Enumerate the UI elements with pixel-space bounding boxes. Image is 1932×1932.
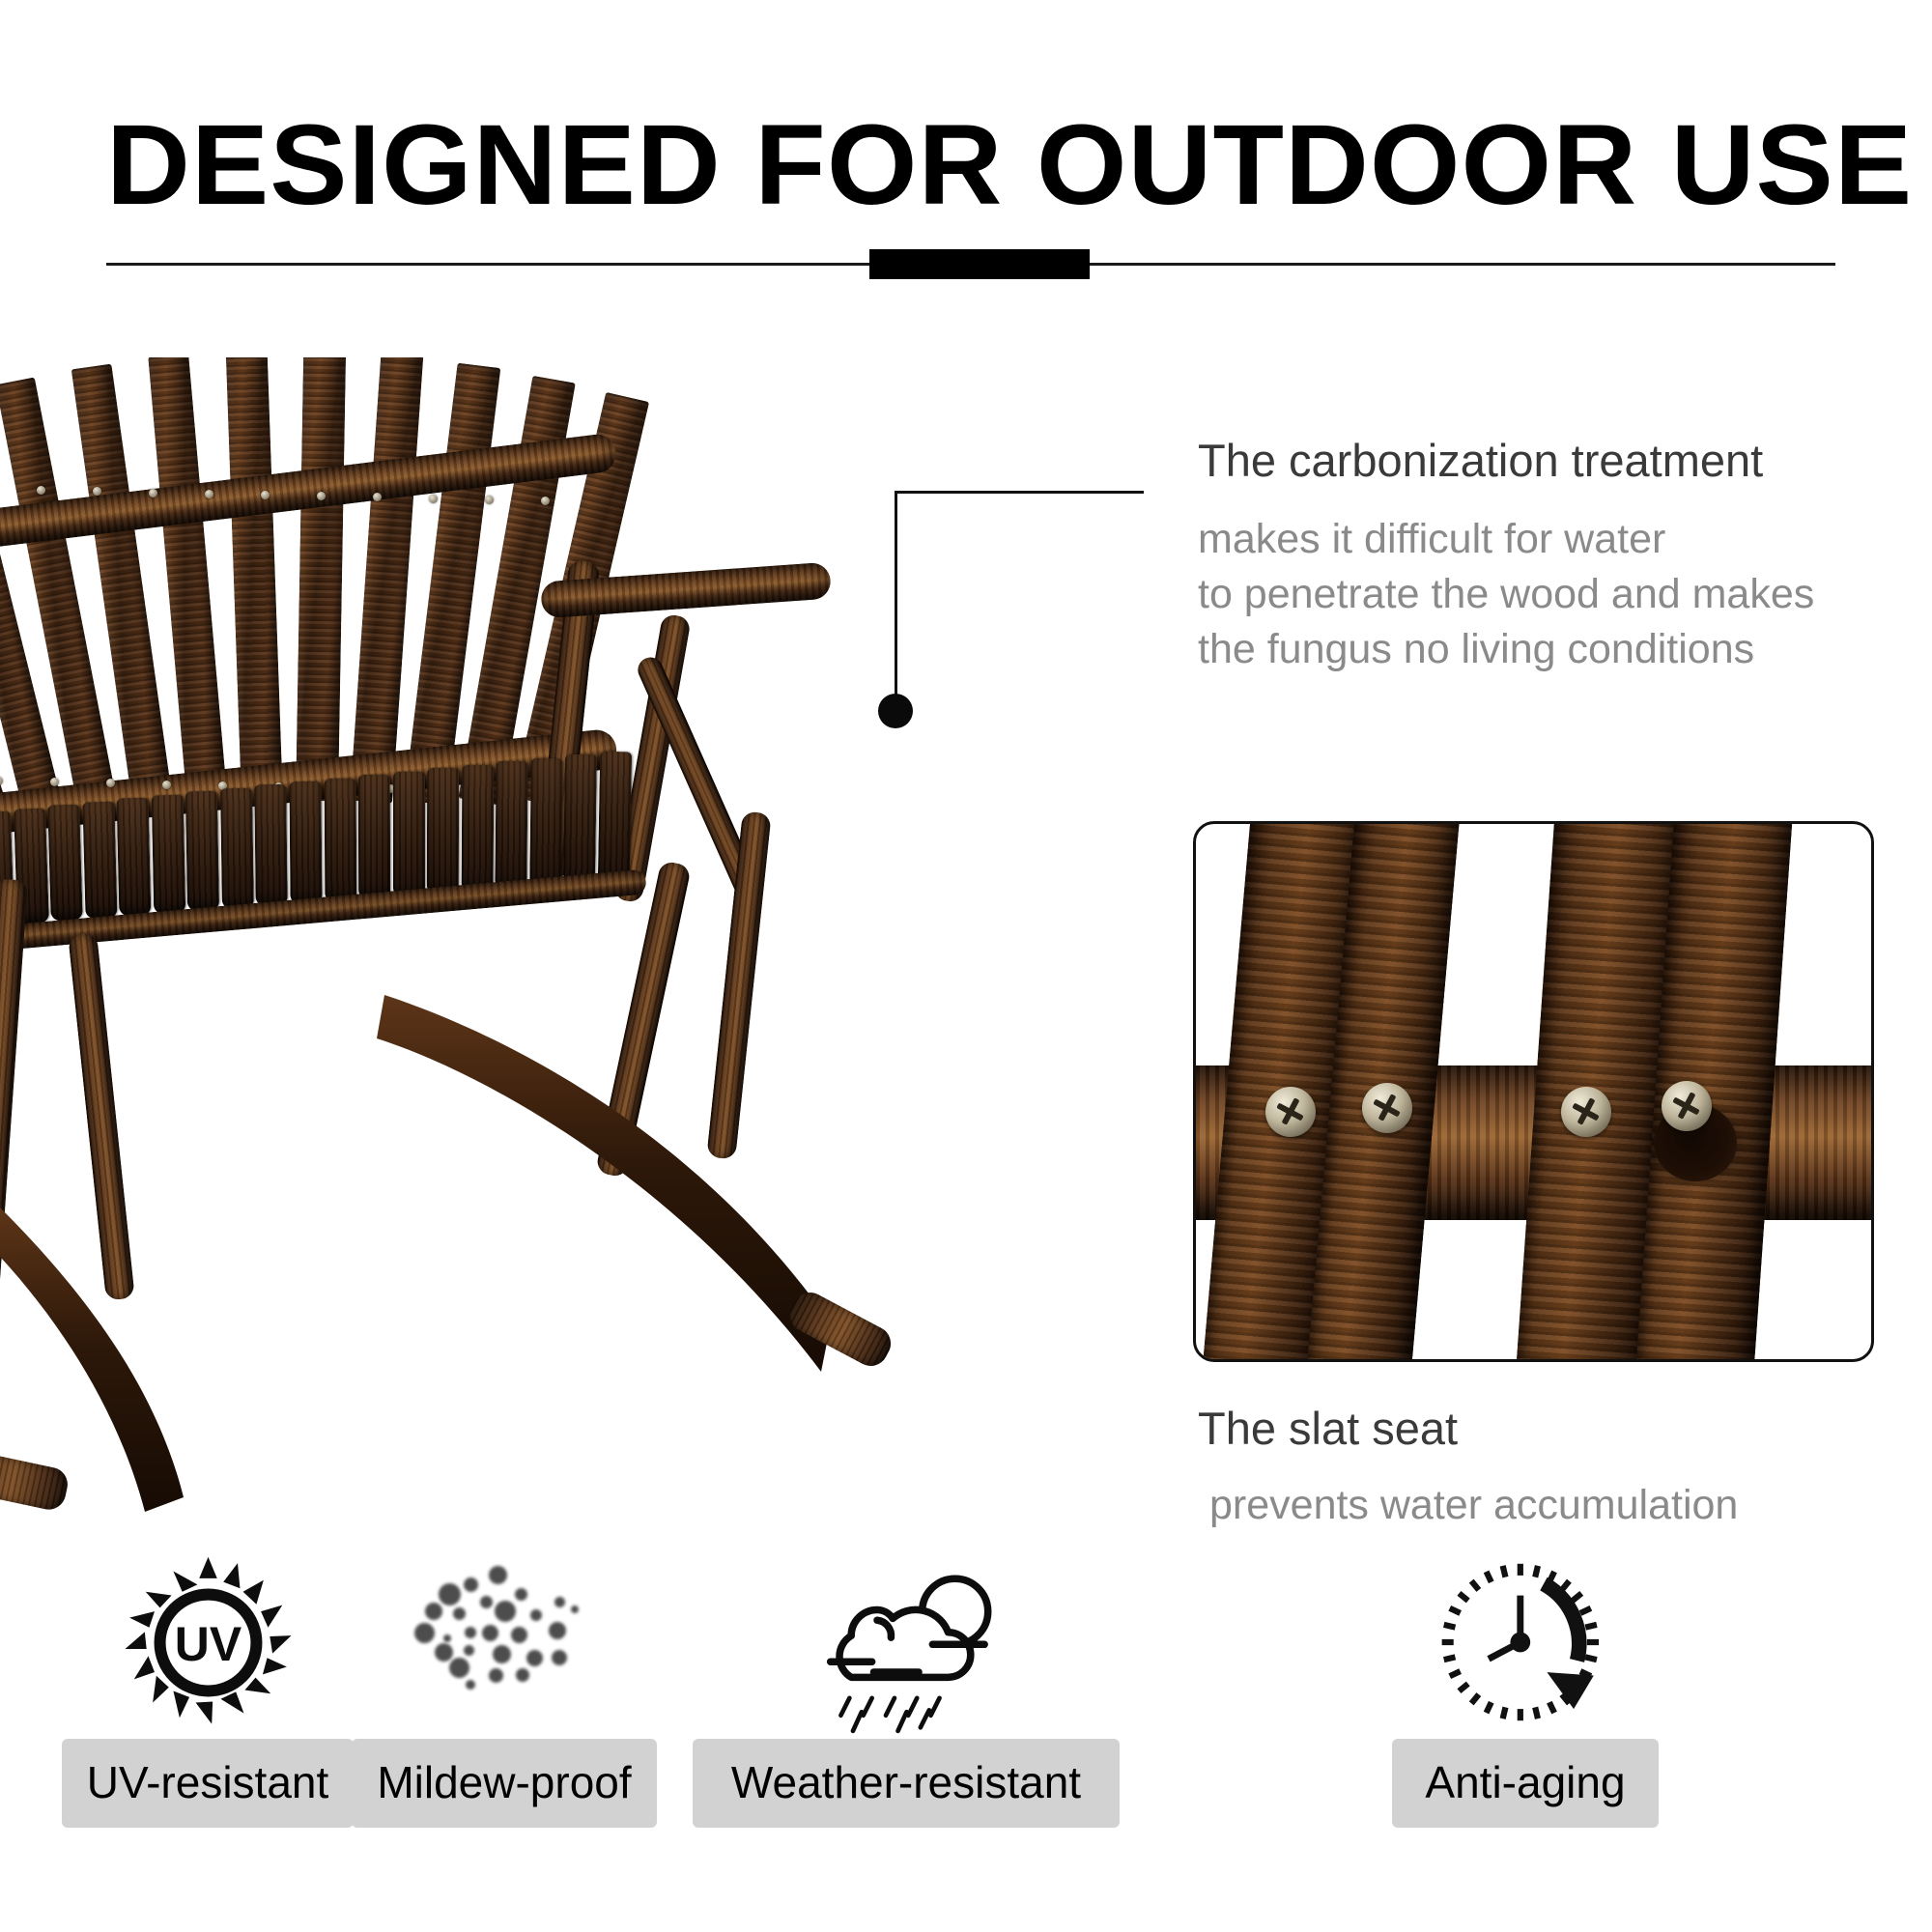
- uv-icon-text: UV: [174, 1617, 241, 1671]
- mildew-spore: [552, 1650, 567, 1665]
- mildew-spore: [549, 1622, 566, 1639]
- feature-anti-aging: Anti-aging: [1211, 1546, 1839, 1828]
- detail-photo-panel: [1193, 821, 1874, 1362]
- callout-leader-dot: [878, 694, 913, 728]
- uv-sun-icon: UV: [119, 1546, 298, 1739]
- detail-screw-3: [1561, 1087, 1611, 1137]
- callout-slat-seat-line-1: prevents water accumulation: [1209, 1478, 1738, 1533]
- mildew-spore: [414, 1623, 435, 1643]
- feature-label-anti-aging: Anti-aging: [1392, 1739, 1658, 1828]
- feature-uv-resistant: UV UV-resistant: [81, 1546, 334, 1828]
- mildew-spore: [465, 1627, 476, 1638]
- detail-screw-1: [1265, 1087, 1316, 1137]
- mildew-spore: [453, 1607, 466, 1620]
- clock-arrow-icon: [1434, 1546, 1617, 1739]
- feature-label-mildew-proof: Mildew-proof: [352, 1739, 656, 1828]
- infographic-page: DESIGNED FOR OUTDOOR USE The carbonizati…: [0, 0, 1932, 1932]
- mildew-spore: [466, 1680, 475, 1690]
- mildew-spore: [526, 1650, 543, 1666]
- cloud-rain-sun-icon: [803, 1546, 1010, 1739]
- product-photo: [0, 357, 1101, 1526]
- detail-screw-2: [1362, 1083, 1412, 1133]
- title-divider-accent-bar: [869, 249, 1090, 279]
- mildew-spore: [530, 1609, 542, 1621]
- mildew-spore: [511, 1627, 527, 1643]
- mildew-spore: [439, 1583, 461, 1605]
- mildew-spore: [495, 1601, 516, 1622]
- mildew-spore: [554, 1597, 565, 1607]
- callout-leader-horizontal: [895, 491, 1144, 494]
- mildew-spores-icon: [412, 1546, 596, 1739]
- callout-slat-seat-heading: The slat seat: [1198, 1401, 1738, 1457]
- mildew-spore: [571, 1605, 579, 1613]
- mildew-spore: [515, 1588, 527, 1601]
- feature-label-weather-resistant: Weather-resistant: [693, 1739, 1120, 1828]
- callout-carbonization-line-2: to penetrate the wood and makes: [1198, 567, 1814, 622]
- rocker-runners: [0, 357, 1101, 1526]
- mildew-spore: [489, 1668, 503, 1683]
- feature-weather-resistant: Weather-resistant: [692, 1546, 1121, 1828]
- mildew-spore: [480, 1596, 493, 1608]
- callout-carbonization-heading: The carbonization treatment: [1198, 433, 1814, 489]
- mildew-spore: [516, 1668, 529, 1682]
- feature-label-uv-resistant: UV-resistant: [62, 1739, 355, 1828]
- mildew-spore: [482, 1625, 498, 1641]
- callout-slat-seat-body: prevents water accumulation: [1198, 1478, 1738, 1533]
- page-title: DESIGNED FOR OUTDOOR USE: [106, 108, 1870, 222]
- mildew-spore: [443, 1634, 451, 1642]
- callout-carbonization: The carbonization treatment makes it dif…: [1198, 433, 1814, 677]
- mildew-spore: [489, 1566, 507, 1584]
- callout-carbonization-line-1: makes it difficult for water: [1198, 512, 1814, 567]
- detail-screw-4: [1662, 1081, 1712, 1131]
- callout-carbonization-line-3: the fungus no living conditions: [1198, 622, 1814, 677]
- mildew-spore: [435, 1643, 453, 1662]
- mildew-spore: [425, 1603, 442, 1620]
- rocking-bench-illustration: [0, 357, 1101, 1526]
- feature-mildew-proof: Mildew-proof: [373, 1546, 636, 1828]
- callout-leader-vertical: [895, 491, 897, 711]
- mildew-spore: [464, 1577, 478, 1592]
- mildew-spore: [449, 1658, 469, 1678]
- mildew-spore: [493, 1645, 511, 1663]
- callout-carbonization-body: makes it difficult for water to penetrat…: [1198, 512, 1814, 677]
- mildew-spore: [464, 1645, 474, 1656]
- callout-slat-seat: The slat seat prevents water accumulatio…: [1198, 1401, 1738, 1533]
